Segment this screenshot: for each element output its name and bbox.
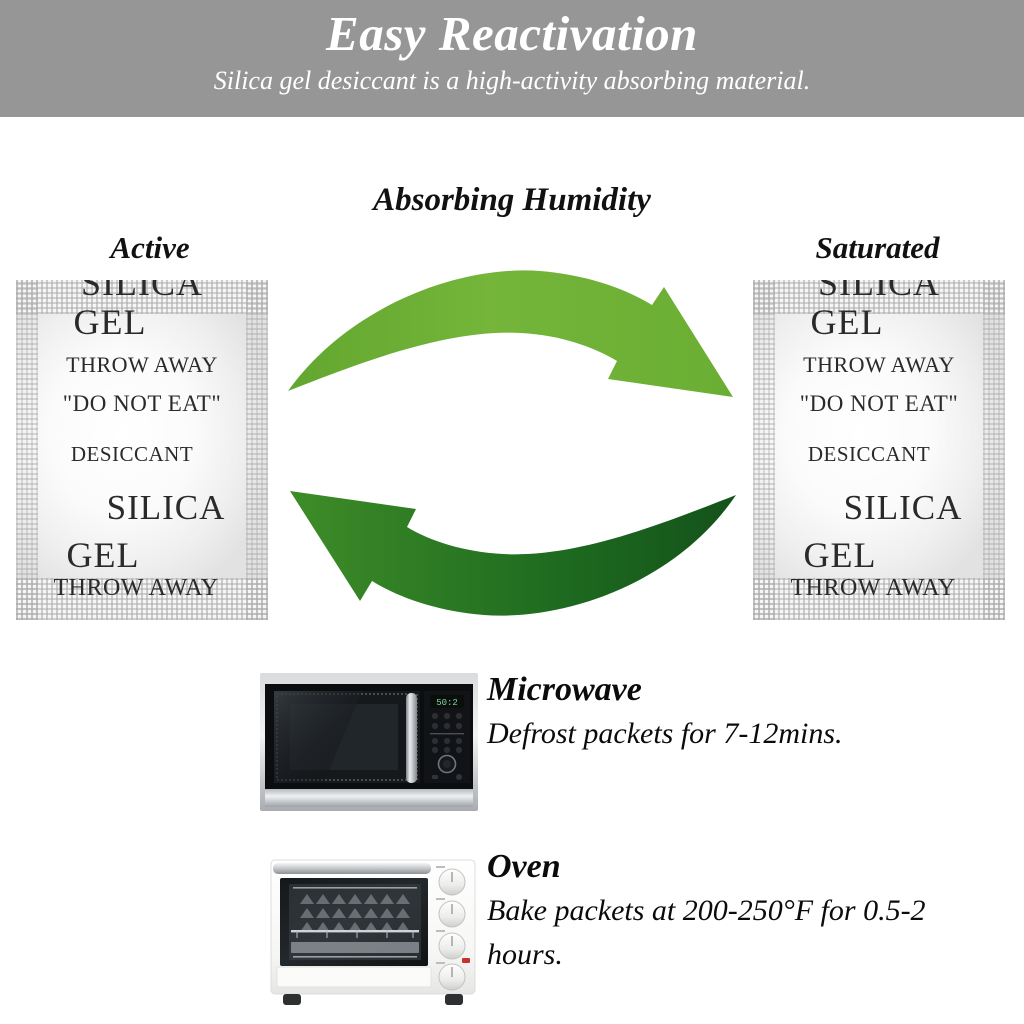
packet-line: DESICCANT xyxy=(71,424,193,484)
absorption-cycle-section: Absorbing Humidity Active Saturated SILI… xyxy=(0,117,1024,637)
oven-door-bottom-panel xyxy=(277,967,431,987)
oven-description: Bake packets at 200-250°F for 0.5-2 hour… xyxy=(487,889,957,977)
oven-door-handle[interactable] xyxy=(273,863,431,874)
microwave-dial-center xyxy=(443,760,451,768)
microwave-title: Microwave xyxy=(487,668,843,712)
microwave-base-trim xyxy=(265,789,473,807)
oven-foot-right xyxy=(445,994,463,1005)
label-saturated-state: Saturated xyxy=(755,230,1000,266)
oven-icon xyxy=(267,846,479,1014)
packet-line: GEL xyxy=(811,298,884,346)
cycle-arrows xyxy=(278,257,746,627)
packet-printed-text: SILICA GEL THROW AWAY "DO NOT EAT" DESIC… xyxy=(16,280,268,620)
packet-line: THROW AWAY xyxy=(803,346,955,384)
oven-heating-element-bottom xyxy=(293,956,417,958)
microwave-instruction-text: Microwave Defrost packets for 7-12mins. xyxy=(487,668,843,756)
packet-line: GEL xyxy=(804,532,877,578)
packet-printed-text: SILICA GEL THROW AWAY "DO NOT EAT" DESIC… xyxy=(753,280,1005,620)
oven-title: Oven xyxy=(487,845,957,889)
oven-baking-tray xyxy=(291,942,419,953)
silica-packet-saturated: SILICA GEL THROW AWAY "DO NOT EAT" DESIC… xyxy=(753,280,1005,620)
instruction-row-oven: Oven Bake packets at 200-250°F for 0.5-2… xyxy=(0,840,1024,1020)
page-subtitle: Silica gel desiccant is a high-activity … xyxy=(0,64,1024,98)
packet-line: THROW AWAY xyxy=(66,346,218,384)
instruction-row-microwave: 50:2 Microwave Defrost packets for 7-12m… xyxy=(0,660,1024,825)
arrow-reactivation-bottom xyxy=(290,491,736,616)
oven-heating-element-top xyxy=(293,887,417,889)
packet-line: GEL xyxy=(74,298,147,346)
cycle-heading: Absorbing Humidity xyxy=(0,182,1024,219)
microwave-icon: 50:2 xyxy=(258,671,480,813)
microwave-stop-button[interactable] xyxy=(432,775,438,779)
packet-line: THROW AWAY xyxy=(53,578,218,598)
header-banner: Easy Reactivation Silica gel desiccant i… xyxy=(0,0,1024,117)
oven-foot-left xyxy=(283,994,301,1005)
packet-line: DESICCANT xyxy=(808,424,930,484)
packet-line: THROW AWAY xyxy=(790,578,955,598)
microwave-description: Defrost packets for 7-12mins. xyxy=(487,712,843,756)
packet-line: SILICA xyxy=(107,484,226,532)
silica-packet-active: SILICA GEL THROW AWAY "DO NOT EAT" DESIC… xyxy=(16,280,268,620)
packet-line: SILICA xyxy=(844,484,963,532)
page-title: Easy Reactivation xyxy=(0,4,1024,64)
packet-line: SILICA xyxy=(81,280,203,298)
label-active-state: Active xyxy=(30,230,270,266)
microwave-start-button[interactable] xyxy=(456,774,462,780)
packet-line: "DO NOT EAT" xyxy=(800,384,959,424)
microwave-display-value: 50:2 xyxy=(436,698,458,708)
packet-line: SILICA xyxy=(818,280,940,298)
oven-power-indicator xyxy=(462,958,470,963)
arrow-absorbing-top xyxy=(288,270,733,397)
packet-line: GEL xyxy=(67,532,140,578)
oven-instruction-text: Oven Bake packets at 200-250°F for 0.5-2… xyxy=(487,845,957,977)
packet-line: "DO NOT EAT" xyxy=(63,384,222,424)
oven-rack xyxy=(291,930,419,932)
microwave-panel-divider xyxy=(430,733,464,734)
microwave-door-handle[interactable] xyxy=(406,693,417,783)
